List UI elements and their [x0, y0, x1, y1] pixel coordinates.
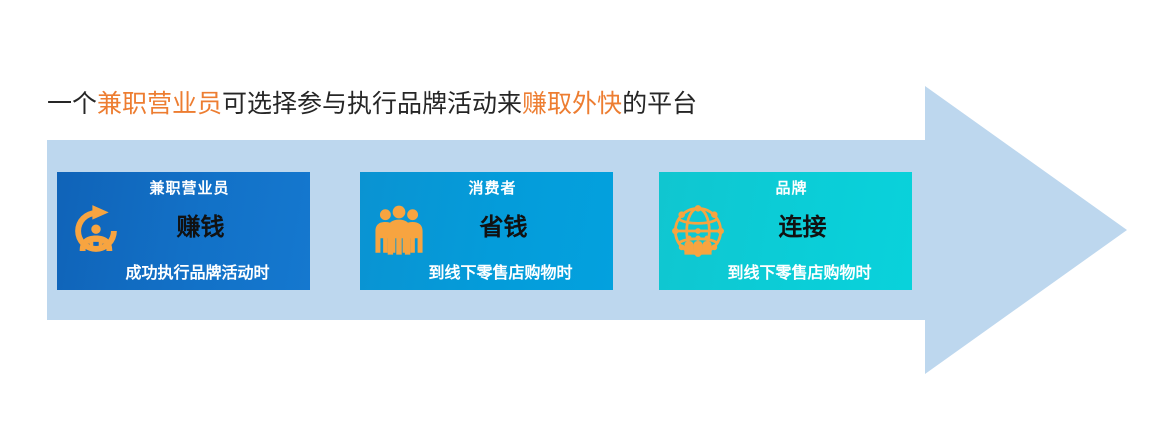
card-audience-label: 消费者	[360, 178, 613, 199]
card-condition-label: 成功执行品牌活动时	[57, 263, 310, 285]
benefit-card-consumer[interactable]: 消费者 省钱 到线下零售店购物时	[360, 172, 613, 290]
headline-segment-4: 的平台	[622, 91, 697, 118]
card-benefit-label: 赚钱	[57, 212, 310, 244]
headline-segment-0: 一个	[47, 91, 97, 118]
card-condition-label: 到线下零售店购物时	[360, 263, 613, 285]
card-audience-label: 品牌	[659, 178, 912, 199]
diagram-canvas: 一个兼职营业员可选择参与执行品牌活动来赚取外快的平台 兼职营业员 赚钱 成功执行…	[0, 0, 1150, 430]
benefit-card-brand[interactable]: 品牌	[659, 172, 912, 290]
card-audience-label: 兼职营业员	[57, 178, 310, 199]
headline-segment-3-highlight: 赚取外快	[522, 91, 622, 118]
card-condition-label: 到线下零售店购物时	[659, 263, 912, 285]
benefit-card-part-time-clerk[interactable]: 兼职营业员 赚钱 成功执行品牌活动时	[57, 172, 310, 290]
card-benefit-label: 省钱	[360, 212, 613, 244]
headline-segment-1-highlight: 兼职营业员	[97, 91, 222, 118]
card-benefit-label: 连接	[659, 212, 912, 244]
headline-segment-2: 可选择参与执行品牌活动来	[222, 91, 522, 118]
page-title: 一个兼职营业员可选择参与执行品牌活动来赚取外快的平台	[47, 88, 697, 122]
